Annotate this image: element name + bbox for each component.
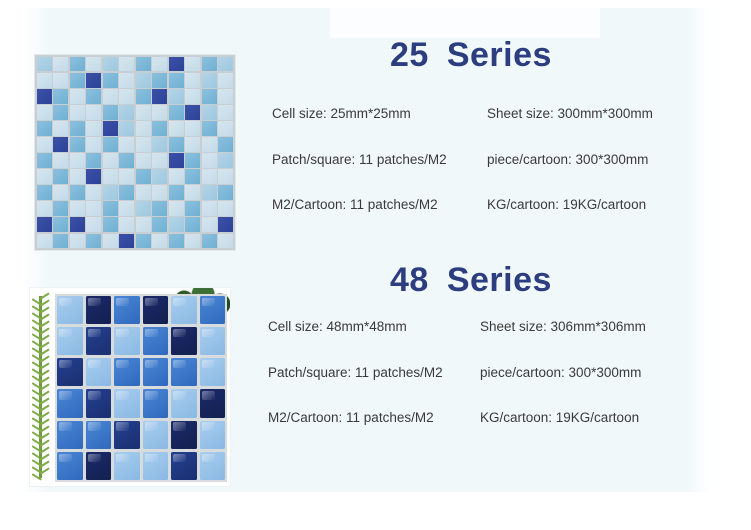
mosaic-tile xyxy=(202,137,217,151)
mosaic-tile xyxy=(114,452,140,480)
mosaic-tile xyxy=(103,121,118,135)
mosaic-tile xyxy=(37,89,52,103)
section-title-25-series: 25Series xyxy=(390,36,552,75)
mosaic-tile xyxy=(103,137,118,151)
mosaic-tile xyxy=(37,201,52,215)
mosaic-tile xyxy=(218,201,233,215)
mosaic-tile xyxy=(86,389,112,417)
spec-cell-patch-square: Patch/square: 11 patches/M2 xyxy=(268,366,480,380)
mosaic-tile xyxy=(136,89,151,103)
mosaic-tile xyxy=(70,217,85,231)
mosaic-tile xyxy=(171,421,197,449)
mosaic-tile xyxy=(37,121,52,135)
mosaic-tile xyxy=(169,169,184,183)
spec-cell-patch-square: Patch/square: 11 patches/M2 xyxy=(272,153,487,167)
mosaic-tile xyxy=(202,169,217,183)
mosaic-tile xyxy=(169,201,184,215)
mosaic-tile xyxy=(119,105,134,119)
mosaic-tile xyxy=(103,169,118,183)
mosaic-tile xyxy=(169,217,184,231)
spec-cell-kg-cartoon: KG/cartoon: 19KG/cartoon xyxy=(480,411,692,425)
section-title-number: 48 xyxy=(390,261,429,299)
mosaic-tile xyxy=(37,217,52,231)
mosaic-tile xyxy=(185,57,200,71)
mosaic-tile xyxy=(152,185,167,199)
mosaic-tile xyxy=(169,105,184,119)
mosaic-tile xyxy=(152,169,167,183)
mosaic-tile xyxy=(53,105,68,119)
mosaic-tile xyxy=(200,296,226,324)
mosaic-tile xyxy=(143,358,169,386)
mosaic-tile xyxy=(86,121,101,135)
mosaic-tile xyxy=(169,137,184,151)
mosaic-tile xyxy=(218,73,233,87)
spec-list-48-series: Cell size: 48mm*48mm Sheet size: 306mm*3… xyxy=(268,320,692,425)
mosaic-tile xyxy=(70,57,85,71)
mosaic-tile xyxy=(143,452,169,480)
mosaic-tile xyxy=(185,185,200,199)
mosaic-tile xyxy=(136,153,151,167)
mosaic-tile xyxy=(37,57,52,71)
spec-cell-cell-size: Cell size: 25mm*25mm xyxy=(272,107,487,121)
mosaic-tile xyxy=(103,153,118,167)
mosaic-tile xyxy=(37,153,52,167)
mosaic-tile xyxy=(53,89,68,103)
mosaic-tile xyxy=(119,73,134,87)
mosaic-tile xyxy=(114,389,140,417)
mosaic-tile xyxy=(53,121,68,135)
mosaic-tile xyxy=(57,421,83,449)
mosaic-tile xyxy=(152,105,167,119)
spec-cell-sheet-size: Sheet size: 306mm*306mm xyxy=(480,320,692,334)
mosaic-tile xyxy=(185,121,200,135)
mosaic-tile xyxy=(136,73,151,87)
mosaic-tile xyxy=(152,217,167,231)
mosaic-tile xyxy=(114,296,140,324)
mosaic-tile-image-48-series xyxy=(30,288,230,486)
mosaic-tile xyxy=(152,137,167,151)
mosaic-tile xyxy=(143,296,169,324)
mosaic-tile xyxy=(136,105,151,119)
mosaic-tile xyxy=(202,153,217,167)
mosaic-tile xyxy=(169,185,184,199)
spec-cell-m2-cartoon: M2/Cartoon: 11 patches/M2 xyxy=(268,411,480,425)
mosaic-tile xyxy=(53,169,68,183)
mosaic-tile xyxy=(53,217,68,231)
mosaic-tile xyxy=(53,57,68,71)
mosaic-tile xyxy=(200,389,226,417)
mosaic-tile xyxy=(119,137,134,151)
mosaic-tile xyxy=(169,57,184,71)
mosaic-tile xyxy=(119,217,134,231)
mosaic-tile xyxy=(70,121,85,135)
mosaic-tile xyxy=(86,73,101,87)
mosaic-tile xyxy=(86,137,101,151)
mosaic-tile xyxy=(103,234,118,248)
mosaic-tile xyxy=(152,234,167,248)
mosaic-tile xyxy=(185,105,200,119)
mosaic-tile xyxy=(152,201,167,215)
mosaic-tile xyxy=(70,137,85,151)
mosaic-tile xyxy=(37,73,52,87)
mosaic-tile xyxy=(218,121,233,135)
mosaic-tile xyxy=(70,105,85,119)
mosaic-tile xyxy=(119,89,134,103)
mosaic-tile xyxy=(143,389,169,417)
mosaic-tile xyxy=(103,57,118,71)
mosaic-tile xyxy=(202,234,217,248)
mosaic-tile xyxy=(86,452,112,480)
mosaic-tile xyxy=(185,137,200,151)
mosaic-tile xyxy=(202,201,217,215)
mosaic-tile xyxy=(185,153,200,167)
mosaic-tile xyxy=(86,153,101,167)
mosaic-tile xyxy=(103,217,118,231)
mosaic-tile xyxy=(57,327,83,355)
mosaic-tile xyxy=(103,201,118,215)
mosaic-tile xyxy=(86,421,112,449)
fern-leaf-decoration xyxy=(30,288,56,486)
mosaic-tile xyxy=(202,217,217,231)
mosaic-tile xyxy=(171,389,197,417)
mosaic-tile xyxy=(169,73,184,87)
mosaic-tile xyxy=(136,169,151,183)
mosaic-tile xyxy=(200,327,226,355)
mosaic-tile xyxy=(70,89,85,103)
mosaic-tile xyxy=(152,57,167,71)
mosaic-tile xyxy=(119,185,134,199)
mosaic-tile xyxy=(119,169,134,183)
mosaic-tile xyxy=(86,234,101,248)
mosaic-tile xyxy=(202,105,217,119)
mosaic-tile xyxy=(53,185,68,199)
mosaic-tile xyxy=(53,73,68,87)
mosaic-tile xyxy=(218,89,233,103)
mosaic-tile xyxy=(185,234,200,248)
spec-cell-cell-size: Cell size: 48mm*48mm xyxy=(268,320,480,334)
mosaic-tile xyxy=(103,89,118,103)
mosaic-tile xyxy=(218,169,233,183)
mosaic-tile xyxy=(114,358,140,386)
mosaic-tile xyxy=(57,452,83,480)
mosaic-tile xyxy=(70,201,85,215)
mosaic-tile xyxy=(114,421,140,449)
mosaic-tile xyxy=(218,153,233,167)
mosaic-tile xyxy=(169,121,184,135)
mosaic-tile xyxy=(202,185,217,199)
mosaic-tile xyxy=(53,234,68,248)
mosaic-tile xyxy=(136,121,151,135)
mosaic-tile xyxy=(218,185,233,199)
product-section-48-series: 48Series Cell size: 48mm*48mm Sheet size… xyxy=(0,248,751,530)
mosaic-tile xyxy=(119,57,134,71)
mosaic-tile xyxy=(103,105,118,119)
mosaic-tile xyxy=(37,169,52,183)
spec-cell-piece-cartoon: piece/cartoon: 300*300mm xyxy=(480,366,692,380)
mosaic-tile xyxy=(119,121,134,135)
mosaic-tile xyxy=(202,121,217,135)
mosaic-tile xyxy=(200,358,226,386)
section-title-number: 25 xyxy=(390,36,429,74)
mosaic-tile xyxy=(86,57,101,71)
mosaic-tile xyxy=(53,201,68,215)
mosaic-tile xyxy=(70,169,85,183)
mosaic-tile xyxy=(136,57,151,71)
mosaic-tile xyxy=(86,296,112,324)
mosaic-tile xyxy=(57,358,83,386)
section-title-word: Series xyxy=(447,36,552,74)
section-title-48-series: 48Series xyxy=(390,261,552,300)
product-section-25-series: 25Series Cell size: 25mm*25mm Sheet size… xyxy=(0,0,751,265)
mosaic-tile xyxy=(218,105,233,119)
mosaic-tile xyxy=(136,185,151,199)
mosaic-tile xyxy=(171,296,197,324)
mosaic-tile xyxy=(171,452,197,480)
mosaic-tile xyxy=(218,57,233,71)
mosaic-tile xyxy=(200,421,226,449)
mosaic-tile xyxy=(169,153,184,167)
mosaic-tile xyxy=(218,137,233,151)
mosaic-tile xyxy=(86,105,101,119)
mosaic-tile xyxy=(171,327,197,355)
mosaic-tile xyxy=(152,121,167,135)
mosaic-tile xyxy=(143,327,169,355)
mosaic-tile xyxy=(185,201,200,215)
spec-list-25-series: Cell size: 25mm*25mm Sheet size: 300mm*3… xyxy=(272,107,702,212)
mosaic-tile xyxy=(37,234,52,248)
spec-cell-m2-cartoon: M2/Cartoon: 11 patches/M2 xyxy=(272,198,487,212)
mosaic-tile xyxy=(53,153,68,167)
mosaic-tile xyxy=(86,358,112,386)
mosaic-tile xyxy=(37,105,52,119)
mosaic-tile xyxy=(86,169,101,183)
mosaic-tile xyxy=(70,234,85,248)
mosaic-tile xyxy=(152,89,167,103)
mosaic-tile xyxy=(86,185,101,199)
mosaic-tile xyxy=(200,452,226,480)
mosaic-tile xyxy=(136,234,151,248)
spec-cell-piece-cartoon: piece/cartoon: 300*300mm xyxy=(487,153,702,167)
mosaic-tile xyxy=(171,358,197,386)
mosaic-tile xyxy=(152,153,167,167)
mosaic-tile xyxy=(136,137,151,151)
mosaic-tile xyxy=(202,73,217,87)
mosaic-tile xyxy=(152,73,167,87)
mosaic-tile xyxy=(169,89,184,103)
mosaic-tile xyxy=(57,296,83,324)
mosaic-tile xyxy=(119,234,134,248)
spec-cell-sheet-size: Sheet size: 300mm*300mm xyxy=(487,107,702,121)
mosaic-tile xyxy=(37,137,52,151)
mosaic-tile xyxy=(70,73,85,87)
mosaic-tile xyxy=(57,389,83,417)
mosaic-tile xyxy=(136,201,151,215)
mosaic-tile xyxy=(37,185,52,199)
mosaic-tile xyxy=(136,217,151,231)
mosaic-tile xyxy=(218,234,233,248)
mosaic-tile xyxy=(169,234,184,248)
mosaic-tile xyxy=(119,201,134,215)
mosaic-tile xyxy=(53,137,68,151)
mosaic-tile-grid-48 xyxy=(55,294,227,482)
mosaic-tile xyxy=(70,153,85,167)
mosaic-tile xyxy=(185,169,200,183)
mosaic-tile xyxy=(218,217,233,231)
mosaic-tile xyxy=(185,73,200,87)
spec-cell-kg-cartoon: KG/cartoon: 19KG/cartoon xyxy=(487,198,702,212)
mosaic-tile xyxy=(86,89,101,103)
mosaic-tile xyxy=(70,185,85,199)
mosaic-tile xyxy=(185,217,200,231)
mosaic-tile xyxy=(202,89,217,103)
mosaic-tile xyxy=(103,185,118,199)
mosaic-tile xyxy=(114,327,140,355)
mosaic-tile xyxy=(185,89,200,103)
mosaic-tile xyxy=(86,327,112,355)
mosaic-tile xyxy=(86,201,101,215)
mosaic-tile-image-25-series xyxy=(35,55,235,250)
mosaic-tile xyxy=(143,421,169,449)
mosaic-tile xyxy=(202,57,217,71)
mosaic-tile xyxy=(86,217,101,231)
section-title-word: Series xyxy=(447,261,552,299)
mosaic-tile xyxy=(103,73,118,87)
mosaic-tile xyxy=(119,153,134,167)
